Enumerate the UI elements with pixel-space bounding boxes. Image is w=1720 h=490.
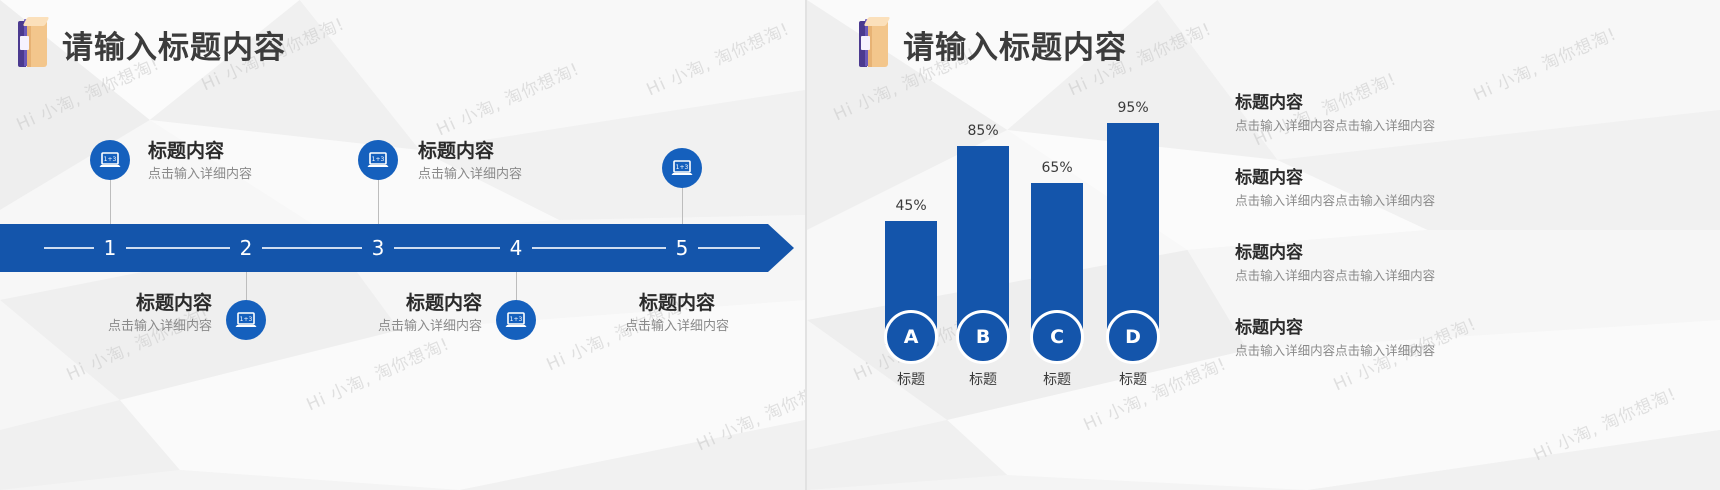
timeline-label-1: 标题内容 点击输入详细内容 bbox=[148, 140, 252, 184]
book-icon bbox=[859, 18, 889, 70]
timeline-node-2-icon[interactable]: 1+3 bbox=[226, 300, 266, 340]
timeline-segment bbox=[394, 247, 500, 249]
svg-text:1+3: 1+3 bbox=[372, 156, 385, 163]
watermark: Hi 小淘, 淘你想淘! bbox=[642, 15, 793, 101]
timeline-segment bbox=[44, 247, 94, 249]
slide-header-left: 请输入标题内容 bbox=[18, 18, 286, 70]
slide-timeline: Hi 小淘, 淘你想淘! Hi 小淘, 淘你想淘! Hi 小淘, 淘你想淘! H… bbox=[0, 0, 805, 490]
bar-badge-b[interactable]: B bbox=[956, 310, 1010, 364]
slide-bar-chart: Hi 小淘, 淘你想淘! Hi 小淘, 淘你想淘! Hi 小淘, 淘你想淘! H… bbox=[805, 0, 1720, 490]
bar-category-c: 标题 bbox=[1043, 369, 1071, 389]
bar-value-b: 85% bbox=[968, 123, 999, 139]
timeline-desc-4: 点击输入详细内容 bbox=[280, 319, 482, 336]
timeline-label-5: 标题内容 点击输入详细内容 bbox=[552, 292, 802, 336]
svg-text:1+3: 1+3 bbox=[104, 156, 117, 163]
timeline-title-1: 标题内容 bbox=[148, 140, 252, 164]
bar-category-b: 标题 bbox=[969, 369, 997, 389]
timeline-title-5: 标题内容 bbox=[552, 292, 802, 316]
bar-category-a: 标题 bbox=[897, 369, 925, 389]
page-title: 请输入标题内容 bbox=[903, 22, 1127, 67]
page-title: 请输入标题内容 bbox=[62, 22, 286, 67]
timeline-segment bbox=[126, 247, 230, 249]
slide-deck: Hi 小淘, 淘你想淘! Hi 小淘, 淘你想淘! Hi 小淘, 淘你想淘! H… bbox=[0, 0, 1720, 490]
timeline-desc-2: 点击输入详细内容 bbox=[0, 319, 212, 336]
timeline-arrow-icon bbox=[768, 224, 794, 272]
timeline-label-4: 标题内容 点击输入详细内容 bbox=[280, 292, 482, 336]
timeline-marker-1[interactable]: 1 bbox=[104, 236, 117, 260]
legend-title-2: 标题内容 bbox=[1235, 168, 1483, 188]
legend-desc-3: 点击输入详细内容点击输入详细内容 bbox=[1235, 267, 1483, 285]
timeline-desc-5: 点击输入详细内容 bbox=[552, 319, 802, 336]
book-icon bbox=[18, 18, 48, 70]
watermark: Hi 小淘, 淘你想淘! bbox=[1079, 350, 1230, 436]
laptop-icon: 1+3 bbox=[366, 148, 390, 172]
timeline-segment bbox=[532, 247, 666, 249]
laptop-icon: 1+3 bbox=[234, 308, 258, 332]
legend-desc-2: 点击输入详细内容点击输入详细内容 bbox=[1235, 192, 1483, 210]
watermark: Hi 小淘, 淘你想淘! bbox=[1469, 20, 1620, 106]
timeline-marker-4[interactable]: 4 bbox=[510, 236, 523, 260]
bar-value-a: 45% bbox=[896, 198, 927, 214]
timeline-segment bbox=[262, 247, 362, 249]
legend-desc-4: 点击输入详细内容点击输入详细内容 bbox=[1235, 342, 1483, 360]
watermark: Hi 小淘, 淘你想淘! bbox=[432, 55, 583, 141]
legend-item-3[interactable]: 标题内容 点击输入详细内容点击输入详细内容 bbox=[1235, 243, 1483, 286]
timeline-desc-3: 点击输入详细内容 bbox=[418, 167, 522, 184]
timeline-title-2: 标题内容 bbox=[0, 292, 212, 316]
timeline-desc-1: 点击输入详细内容 bbox=[148, 167, 252, 184]
legend-item-2[interactable]: 标题内容 点击输入详细内容点击输入详细内容 bbox=[1235, 168, 1483, 211]
legend-desc-1: 点击输入详细内容点击输入详细内容 bbox=[1235, 117, 1483, 135]
timeline-marker-2[interactable]: 2 bbox=[240, 236, 253, 260]
legend-title-4: 标题内容 bbox=[1235, 318, 1483, 338]
timeline-node-3-icon[interactable]: 1+3 bbox=[358, 140, 398, 180]
watermark: Hi 小淘, 淘你想淘! bbox=[1529, 380, 1680, 466]
timeline-node-5-icon[interactable]: 1+3 bbox=[662, 148, 702, 188]
svg-text:1+3: 1+3 bbox=[676, 164, 689, 171]
watermark: Hi 小淘, 淘你想淘! bbox=[692, 370, 805, 456]
timeline-title-3: 标题内容 bbox=[418, 140, 522, 164]
timeline-marker-5[interactable]: 5 bbox=[676, 236, 689, 260]
laptop-icon: 1+3 bbox=[98, 148, 122, 172]
legend-item-4[interactable]: 标题内容 点击输入详细内容点击输入详细内容 bbox=[1235, 318, 1483, 361]
legend-title-1: 标题内容 bbox=[1235, 93, 1483, 113]
bar-badge-a[interactable]: A bbox=[884, 310, 938, 364]
svg-text:1+3: 1+3 bbox=[510, 316, 523, 323]
bar-value-d: 95% bbox=[1118, 100, 1149, 116]
laptop-icon: 1+3 bbox=[670, 156, 694, 180]
bar-badge-d[interactable]: D bbox=[1106, 310, 1160, 364]
bar-category-d: 标题 bbox=[1119, 369, 1147, 389]
laptop-icon: 1+3 bbox=[504, 308, 528, 332]
timeline-node-4-icon[interactable]: 1+3 bbox=[496, 300, 536, 340]
timeline-marker-3[interactable]: 3 bbox=[372, 236, 385, 260]
watermark: Hi 小淘, 淘你想淘! bbox=[302, 330, 453, 416]
bar-badge-c[interactable]: C bbox=[1030, 310, 1084, 364]
timeline-node-1-icon[interactable]: 1+3 bbox=[90, 140, 130, 180]
timeline-label-2: 标题内容 点击输入详细内容 bbox=[0, 292, 212, 336]
timeline-label-3: 标题内容 点击输入详细内容 bbox=[418, 140, 522, 184]
slide-header-right: 请输入标题内容 bbox=[859, 18, 1127, 70]
bar-value-c: 65% bbox=[1042, 160, 1073, 176]
legend-item-1[interactable]: 标题内容 点击输入详细内容点击输入详细内容 bbox=[1235, 93, 1483, 136]
svg-text:1+3: 1+3 bbox=[240, 316, 253, 323]
legend-title-3: 标题内容 bbox=[1235, 243, 1483, 263]
timeline-title-4: 标题内容 bbox=[280, 292, 482, 316]
timeline-segment bbox=[698, 247, 760, 249]
